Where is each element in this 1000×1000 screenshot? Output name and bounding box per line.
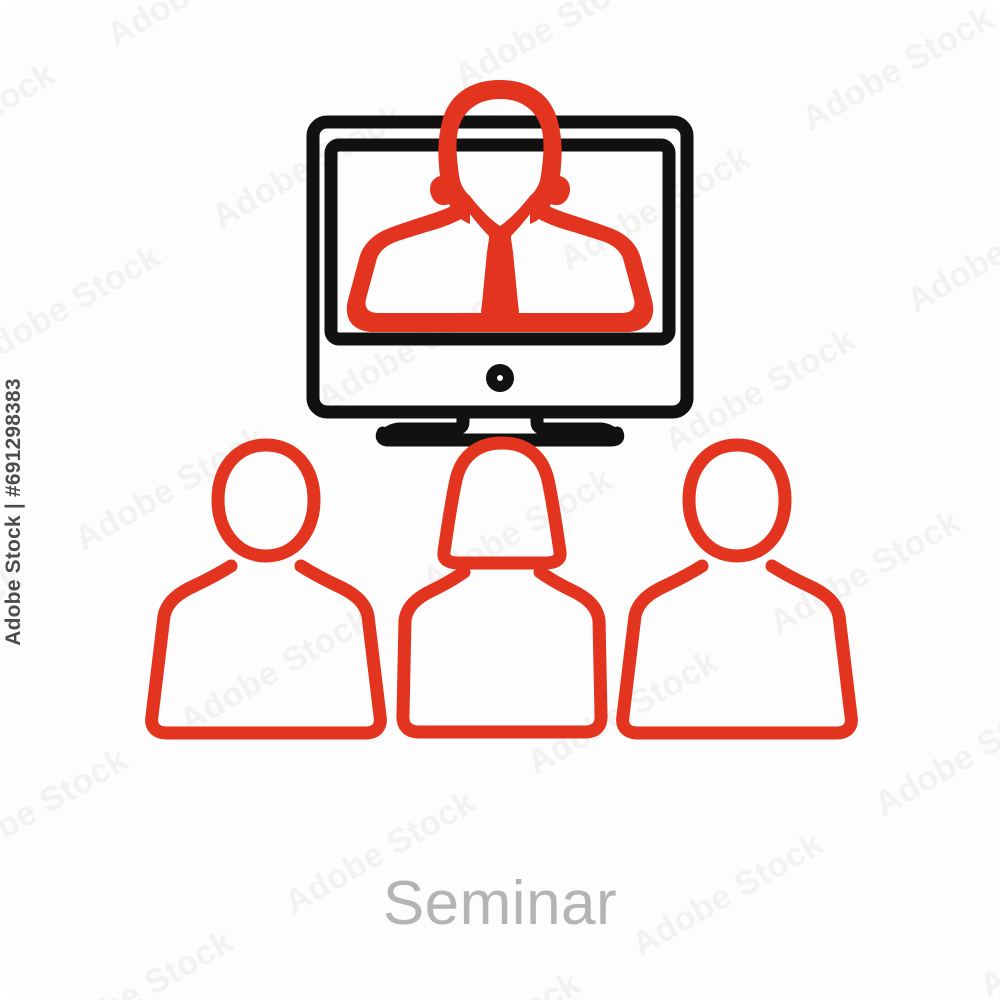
image-canvas: Adobe Stock Adobe Stock Adobe Stock Adob… [0,0,1000,1000]
seminar-icon [0,0,1000,1000]
icon-caption: Seminar [0,868,1000,939]
audience-center-head [444,443,560,563]
stock-credit-label: Adobe Stock | #691298383 [2,378,26,646]
audience-left-head [218,445,314,556]
audience-center-body [403,572,601,732]
audience-figure-right [623,445,852,733]
presenter-tie-body [481,232,519,314]
audience-right-body [623,566,852,733]
stand-helper [0,0,460,432]
audience-figure-left [152,445,381,733]
audience-row [152,443,852,733]
audience-figure-center [403,443,601,732]
indicator-dot [492,370,509,387]
audience-left-body [152,566,381,733]
presenter-head [430,80,570,224]
audience-right-head [689,445,785,556]
